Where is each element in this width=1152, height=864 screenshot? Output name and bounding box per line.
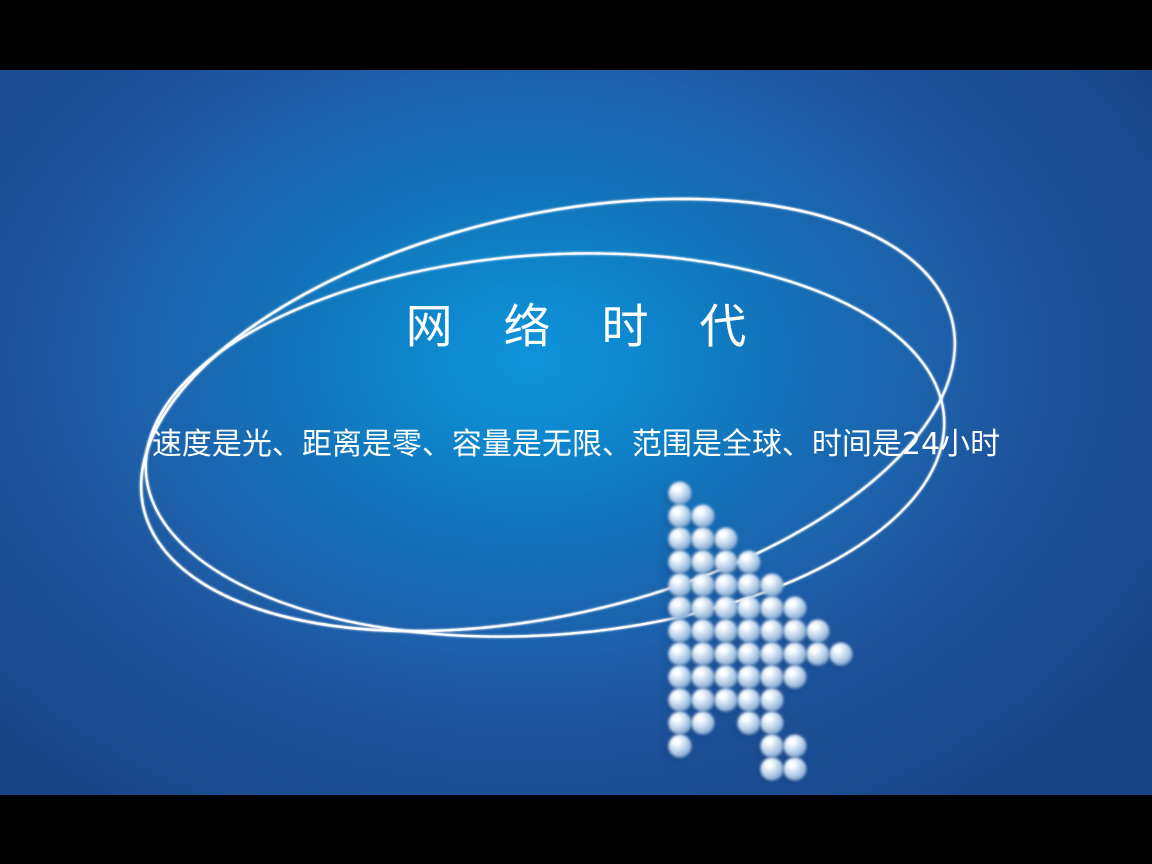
- orbit-ring-inner: [133, 228, 958, 663]
- orbit-ring-outer: [99, 127, 998, 703]
- letterbox-bar-top: [0, 0, 1152, 70]
- presentation-slide: 网 络 时 代 速度是光、距离是零、容量是无限、范围是全球、时间是24小时: [0, 0, 1152, 864]
- orbit-rings-layer: [0, 70, 1152, 795]
- cursor-bead-matrix: [669, 482, 853, 781]
- slide-title: 网 络 时 代: [0, 300, 1152, 355]
- slide-canvas: 网 络 时 代 速度是光、距离是零、容量是无限、范围是全球、时间是24小时: [0, 70, 1152, 795]
- canvas-vignette: [0, 70, 1152, 795]
- slide-subtitle: 速度是光、距离是零、容量是无限、范围是全球、时间是24小时: [0, 427, 1152, 463]
- slide-text-layer: 网 络 时 代 速度是光、距离是零、容量是无限、范围是全球、时间是24小时: [0, 70, 1152, 795]
- letterbox-bar-bottom: [0, 795, 1152, 864]
- mouse-cursor-icon: [662, 475, 852, 775]
